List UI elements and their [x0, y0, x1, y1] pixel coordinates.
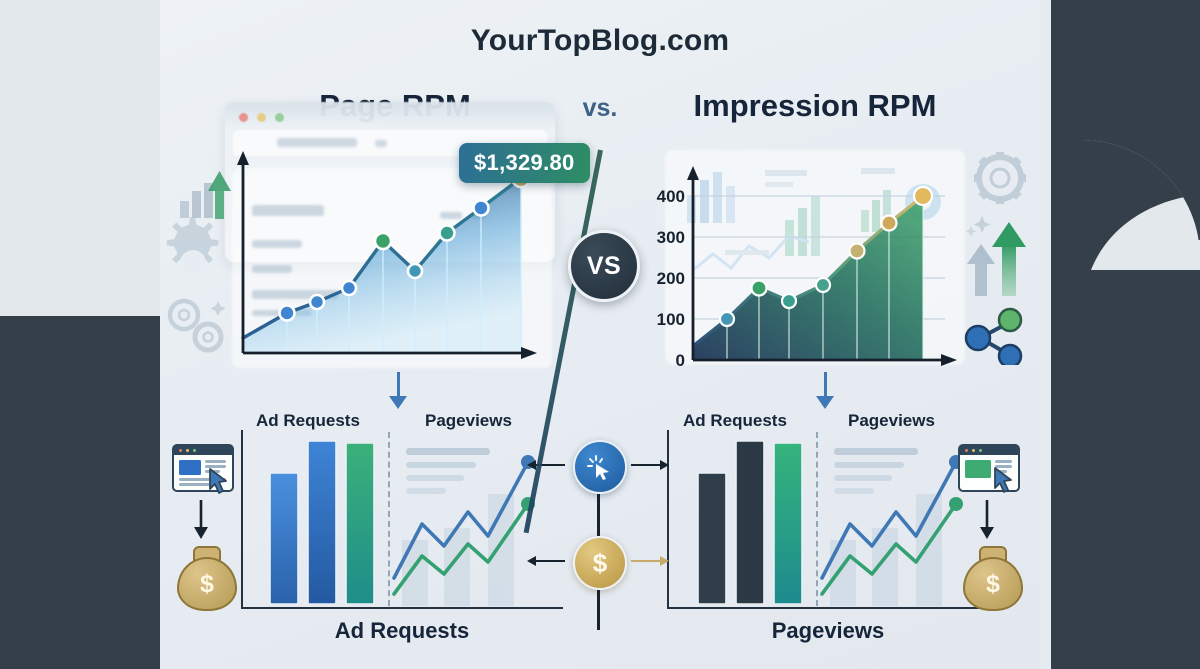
svg-text:0: 0	[676, 351, 685, 370]
window-close-dot	[239, 113, 248, 122]
share-nodes-icon	[966, 309, 1021, 365]
window-dot-red	[179, 449, 182, 452]
heading-impression-rpm: Impression RPM	[650, 88, 980, 124]
down-arrow-right	[816, 396, 834, 409]
window-dot-green	[979, 449, 982, 452]
svg-text:300: 300	[657, 228, 685, 247]
right-section-rule	[667, 430, 669, 608]
money-bag-symbol-left: $	[200, 570, 214, 599]
mid-label-pageviews-left: Pageviews	[425, 411, 512, 431]
sparkle-icon	[211, 301, 226, 316]
right-bottom-rule	[667, 607, 989, 609]
window-titlebar	[174, 446, 232, 455]
window-hero-block	[965, 460, 991, 478]
dollar-symbol: $	[593, 548, 607, 579]
gear-icon	[974, 152, 1026, 204]
center-connector-stem-bottom	[597, 590, 600, 630]
mid-label-ad-requests-left: Ad Requests	[256, 411, 360, 431]
window-minimize-dot	[257, 113, 266, 122]
left-icon-column: $	[172, 444, 246, 611]
svg-text:100: 100	[657, 310, 685, 329]
down-arrow-icon-right	[977, 500, 997, 540]
down-arrow-stem-left	[397, 372, 400, 398]
cursor-click-icon	[573, 440, 627, 494]
decorative-right-bottom-panel	[1051, 264, 1200, 669]
center-connector-stem-top	[597, 494, 600, 536]
money-arrow-left	[535, 560, 565, 562]
site-title: YourTopBlog.com	[0, 24, 1200, 58]
right-dashed-divider	[816, 432, 818, 606]
cursor-icon-left	[208, 468, 230, 494]
cursor-arrow-glyph	[585, 452, 615, 482]
svg-text:200: 200	[657, 269, 685, 288]
window-text-1	[995, 460, 1012, 463]
up-arrow-green-icon	[992, 222, 1026, 296]
left-dashed-divider	[388, 432, 390, 606]
infographic-canvas: YourTopBlog.com Page RPM vs. Impression …	[0, 0, 1200, 669]
window-maximize-dot	[275, 113, 284, 122]
bottom-label-left: Ad Requests	[241, 618, 563, 644]
left-decorative-icons	[160, 165, 240, 355]
mid-label-pageviews-right: Pageviews	[848, 411, 935, 431]
left-ad-requests-bars	[248, 432, 388, 604]
right-decorative-icons	[958, 150, 1048, 365]
money-bag-symbol-right: $	[986, 570, 1000, 599]
sparkle-icon	[974, 216, 991, 233]
heading-vs-text: vs.	[560, 94, 640, 123]
down-arrow-stem-right	[824, 372, 827, 398]
browser-window-icon-left	[172, 444, 234, 492]
vs-badge: VS	[568, 230, 640, 302]
decorative-left-dark-panel	[0, 316, 160, 669]
window-dot-green	[193, 449, 196, 452]
up-arrow-icon	[967, 244, 995, 296]
right-icon-column: $	[958, 444, 1032, 611]
down-arrow-left	[389, 396, 407, 409]
small-sparkle-icon	[966, 226, 976, 236]
money-arrow-right	[631, 560, 661, 562]
down-arrow-icon-left	[191, 500, 211, 540]
bottom-label-right: Pageviews	[667, 618, 989, 644]
window-dot-yellow	[972, 449, 975, 452]
window-hero-block	[179, 460, 201, 475]
gear-icon	[167, 217, 218, 276]
dollar-coin-icon: $	[573, 536, 627, 590]
money-bag-icon-left: $	[177, 557, 237, 611]
window-dot-red	[965, 449, 968, 452]
click-arrow-right	[631, 464, 661, 466]
window-dot-yellow	[186, 449, 189, 452]
left-pageviews-lines	[392, 432, 560, 606]
browser-window-icon-right	[958, 444, 1020, 492]
mid-label-ad-requests-right: Ad Requests	[683, 411, 787, 431]
svg-text:400: 400	[657, 187, 685, 206]
window-text-1	[205, 460, 226, 463]
cursor-icon-right	[993, 467, 1015, 493]
left-bottom-rule	[241, 607, 563, 609]
right-ad-requests-bars	[676, 432, 816, 604]
price-badge: $1,329.80	[459, 143, 590, 183]
window-titlebar	[960, 446, 1018, 455]
money-bag-icon-right: $	[963, 557, 1023, 611]
impression-rpm-line-chart: 400 300 200 100 0	[645, 160, 975, 385]
